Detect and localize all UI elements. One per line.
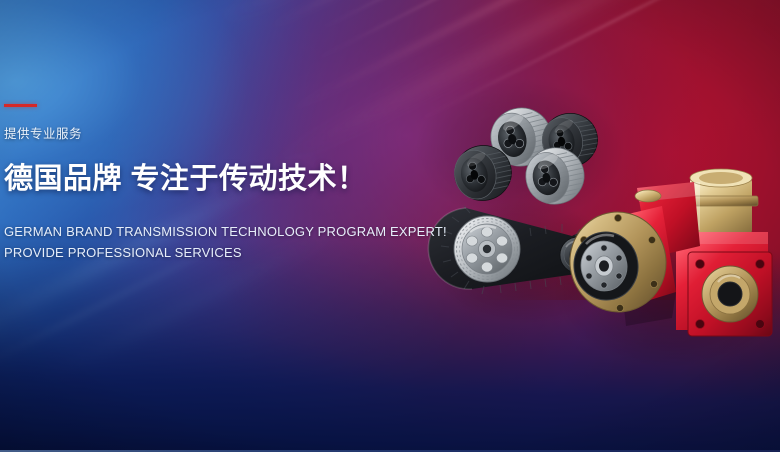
promo-banner: 提供专业服务 德国品牌 专注于传动技术！ GERMAN BRAND TRANSM… — [0, 0, 780, 452]
timing-belt-drive-assembly — [428, 206, 603, 294]
gearbox-rear-brass-output — [684, 169, 758, 234]
timing-pulley-silver-top — [485, 102, 557, 173]
belt-small-pulley — [560, 237, 596, 273]
timing-pulley-dark-top-right — [538, 109, 602, 171]
gearbox-rear-flange — [688, 252, 772, 336]
banner-text-block: 提供专业服务 德国品牌 专注于传动技术！ GERMAN BRAND TRANSM… — [4, 104, 434, 263]
timing-pulley-silver-right — [521, 142, 590, 209]
accent-bar — [4, 104, 37, 107]
banner-subtitle: 提供专业服务 — [4, 128, 434, 141]
belt-large-pulley — [454, 216, 520, 282]
right-angle-planetary-gearbox-rear — [676, 169, 772, 336]
banner-english-line-1: GERMAN BRAND TRANSMISSION TECHNOLOGY PRO… — [4, 221, 434, 242]
right-angle-planetary-gearbox-front — [564, 182, 700, 326]
gearbox-front-flange — [564, 206, 673, 318]
banner-english-line-2: PROVIDE PROFESSIONAL SERVICES — [4, 242, 434, 263]
banner-headline: 德国品牌 专注于传动技术！ — [4, 163, 434, 195]
background-purple-streak — [0, 300, 780, 452]
timing-pulley-dark-left — [449, 140, 516, 205]
